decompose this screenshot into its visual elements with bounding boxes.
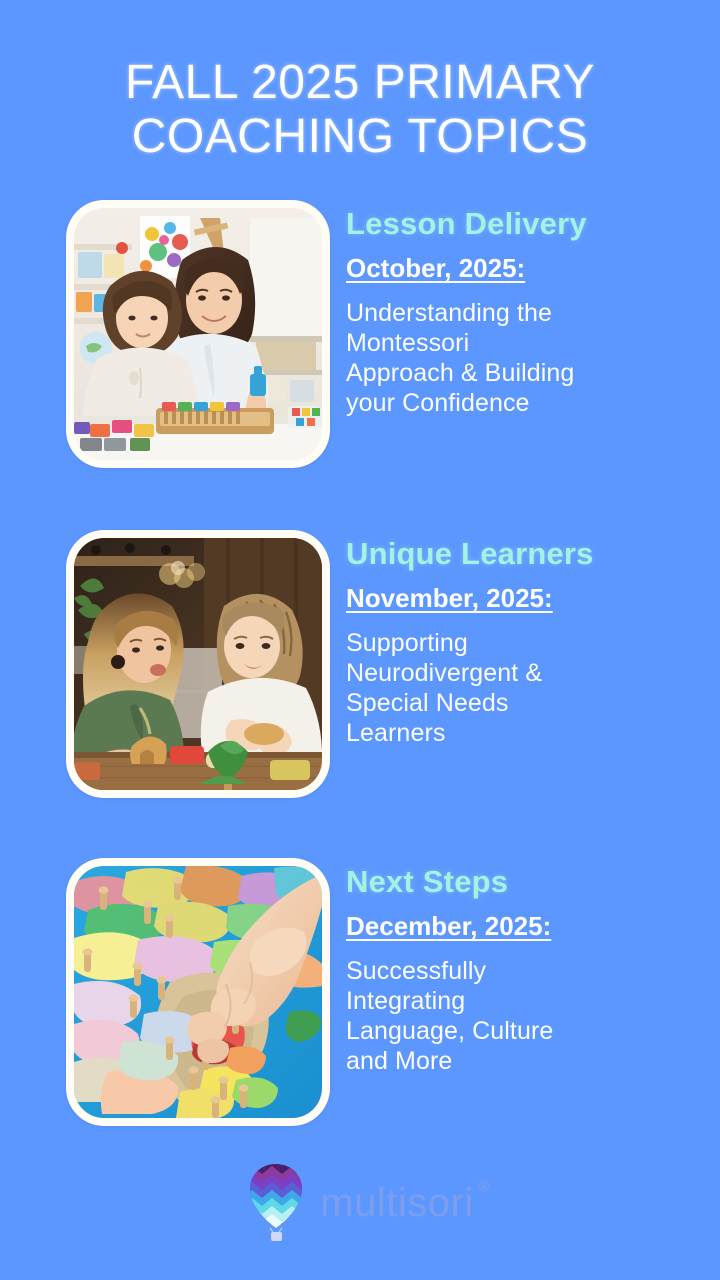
- topic-description: Understanding the Montessori Approach & …: [346, 298, 676, 418]
- photo-unique-learners: [74, 538, 322, 790]
- topic-photo-card: [66, 858, 330, 1126]
- title-line-1: FALL 2025 PRIMARY: [30, 56, 690, 110]
- topic-photo-card: [66, 530, 330, 798]
- brand-logo: multisori®: [0, 1162, 720, 1244]
- hot-air-balloon-icon: [246, 1162, 306, 1244]
- topic-section-lesson-delivery: Lesson Delivery October, 2025: Understan…: [0, 200, 720, 470]
- brand-name: multisori: [320, 1181, 473, 1225]
- topic-section-next-steps: Next Steps December, 2025: Successfully …: [0, 858, 720, 1128]
- topic-heading: Next Steps: [346, 864, 676, 900]
- brand-wordmark: multisori®: [320, 1181, 473, 1225]
- page-title: FALL 2025 PRIMARY COACHING TOPICS: [0, 56, 720, 164]
- photo-lesson-delivery: [74, 208, 322, 460]
- topic-photo-card: [66, 200, 330, 468]
- photo-next-steps: [74, 866, 322, 1118]
- topic-text-column: Unique Learners November, 2025: Supporti…: [330, 530, 720, 748]
- topic-heading: Unique Learners: [346, 536, 676, 572]
- topic-heading: Lesson Delivery: [346, 206, 676, 242]
- poster-canvas: FALL 2025 PRIMARY COACHING TOPICS: [0, 0, 720, 1280]
- topic-text-column: Lesson Delivery October, 2025: Understan…: [330, 200, 720, 418]
- registered-trademark-symbol: ®: [478, 1179, 490, 1194]
- topic-section-unique-learners: Unique Learners November, 2025: Supporti…: [0, 530, 720, 800]
- topic-description: Supporting Neurodivergent & Special Need…: [346, 628, 676, 748]
- title-line-2: COACHING TOPICS: [30, 110, 690, 164]
- topic-text-column: Next Steps December, 2025: Successfully …: [330, 858, 720, 1076]
- topic-date: December, 2025:: [346, 910, 551, 942]
- topic-date: October, 2025:: [346, 252, 525, 284]
- topic-description: Successfully Integrating Language, Cultu…: [346, 956, 676, 1076]
- topic-date: November, 2025:: [346, 582, 553, 614]
